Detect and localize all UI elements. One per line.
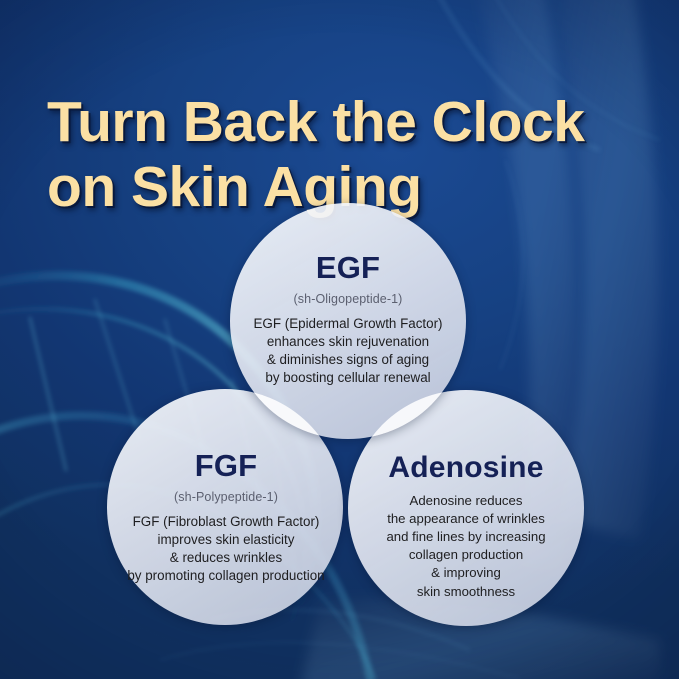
- venn-label-adenosine: Adenosine Adenosine reduces the appearan…: [349, 452, 583, 601]
- venn-body-fgf: FGF (Fibroblast Growth Factor) improves …: [101, 513, 351, 586]
- venn-subtitle-fgf: (sh-Polypeptide-1): [101, 490, 351, 504]
- venn-label-egf: EGF (sh-Oligopeptide-1) EGF (Epidermal G…: [229, 252, 467, 387]
- venn-body-adenosine: Adenosine reduces the appearance of wrin…: [349, 492, 583, 601]
- venn-subtitle-egf: (sh-Oligopeptide-1): [229, 292, 467, 306]
- venn-label-fgf: FGF (sh-Polypeptide-1) FGF (Fibroblast G…: [101, 450, 351, 585]
- venn-title-adenosine: Adenosine: [349, 452, 583, 484]
- venn-title-fgf: FGF: [101, 450, 351, 483]
- venn-title-egf: EGF: [229, 252, 467, 285]
- poster-canvas: Turn Back the Clock on Skin Aging: [0, 0, 679, 679]
- venn-body-egf: EGF (Epidermal Growth Factor) enhances s…: [229, 315, 467, 388]
- venn-diagram: EGF (sh-Oligopeptide-1) EGF (Epidermal G…: [0, 0, 679, 679]
